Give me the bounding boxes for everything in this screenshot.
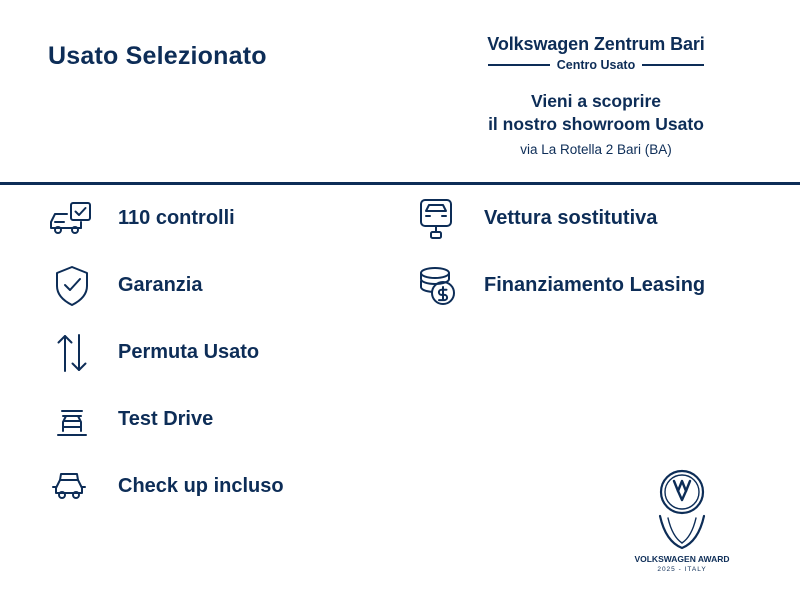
volkswagen-award-badge: VOLKSWAGEN AWARD 2025 - ITALY	[622, 460, 742, 580]
car-check-icon	[44, 191, 100, 247]
header: Usato Selezionato Volkswagen Zentrum Bar…	[0, 0, 800, 182]
brand-divider-line	[642, 64, 704, 66]
feature-item: Check up incluso	[44, 453, 284, 520]
car-road-icon	[44, 392, 100, 448]
promo-address: via La Rotella 2 Bari (BA)	[436, 142, 756, 157]
award-title: VOLKSWAGEN AWARD	[634, 554, 729, 564]
feature-label: Finanziamento Leasing	[484, 274, 705, 297]
feature-item: Garanzia	[44, 252, 284, 319]
promo-line-1: Vieni a scoprire	[436, 90, 756, 113]
promo-line-2: il nostro showroom Usato	[436, 113, 756, 136]
dealer-brand-block: Volkswagen Zentrum Bari Centro Usato Vie…	[436, 34, 756, 157]
dealer-subtitle-row: Centro Usato	[436, 58, 756, 72]
feature-label: 110 controlli	[118, 207, 235, 230]
feature-item: Permuta Usato	[44, 319, 284, 386]
arrows-exchange-icon	[44, 325, 100, 381]
dealer-name: Volkswagen Zentrum Bari	[436, 34, 756, 55]
award-subtitle: 2025 - ITALY	[657, 566, 706, 573]
features-column-left: 110 controlli Garanzia	[44, 185, 284, 520]
feature-label: Permuta Usato	[118, 341, 259, 364]
feature-item: 110 controlli	[44, 185, 284, 252]
coins-dollar-icon	[410, 258, 466, 314]
features-column-right: Vettura sostitutiva Finanziamento Leasin…	[410, 185, 705, 319]
feature-item: Test Drive	[44, 386, 284, 453]
feature-label: Test Drive	[118, 408, 213, 431]
promo-block: Vieni a scoprire il nostro showroom Usat…	[436, 90, 756, 157]
car-key-icon	[410, 191, 466, 247]
car-checkup-icon	[44, 459, 100, 515]
feature-label: Check up incluso	[118, 475, 284, 498]
brand-divider-line	[488, 64, 550, 66]
dealer-subtitle: Centro Usato	[557, 58, 635, 72]
feature-label: Garanzia	[118, 274, 202, 297]
feature-item: Finanziamento Leasing	[410, 252, 705, 319]
feature-label: Vettura sostitutiva	[484, 207, 657, 230]
volkswagen-logo-icon	[661, 471, 703, 513]
feature-item: Vettura sostitutiva	[410, 185, 705, 252]
page-title: Usato Selezionato	[48, 42, 267, 71]
promo-page: Usato Selezionato Volkswagen Zentrum Bar…	[0, 0, 800, 600]
shield-check-icon	[44, 258, 100, 314]
